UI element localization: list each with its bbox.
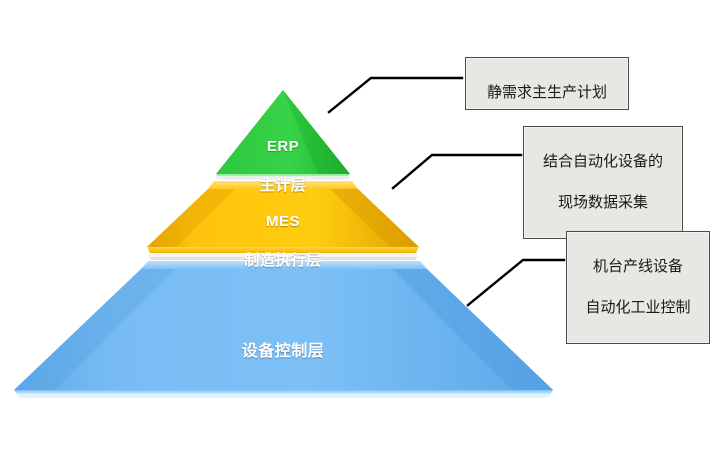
callout-erp-line1: 静需求主生产计划 bbox=[487, 84, 607, 101]
callout-mes-line2: 现场数据采集 bbox=[533, 193, 673, 213]
diagram-canvas: ERP 主计层 MES 制造执行层 设备控制层 静需求主生产计划 结合自动化设备… bbox=[0, 0, 720, 450]
callout-equipment-line1: 机台产线设备 bbox=[576, 257, 700, 277]
callout-mes-line1: 结合自动化设备的 bbox=[533, 152, 673, 172]
leader-line-mes bbox=[393, 155, 521, 188]
callout-erp[interactable]: 静需求主生产计划 bbox=[465, 57, 629, 110]
mes-layer-shape[interactable] bbox=[147, 181, 419, 260]
callout-equipment-line2: 自动化工业控制 bbox=[576, 298, 700, 318]
callout-equipment[interactable]: 机台产线设备 自动化工业控制 bbox=[566, 231, 710, 344]
equipment-control-layer-shape[interactable] bbox=[14, 261, 553, 398]
leader-line-erp bbox=[329, 78, 462, 112]
callout-mes[interactable]: 结合自动化设备的 现场数据采集 bbox=[523, 126, 683, 239]
leader-line-equipment bbox=[468, 260, 564, 305]
erp-layer-shape[interactable] bbox=[216, 90, 350, 180]
